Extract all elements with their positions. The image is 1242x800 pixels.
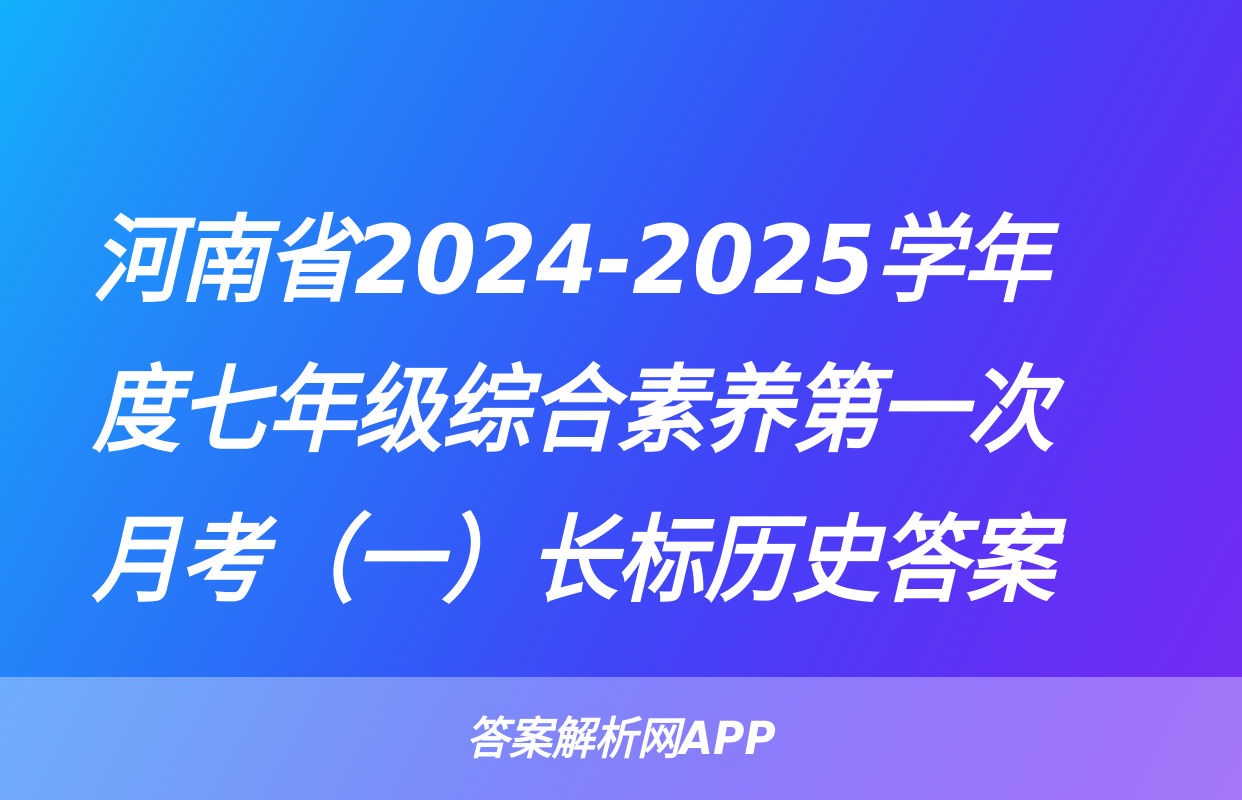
footer-band: 答案解析网APP xyxy=(0,677,1242,800)
poster-canvas: 河南省2024-2025学年 度七年级综合素养第一次 月考（一）长标历史答案 答… xyxy=(0,0,1242,800)
title-line-3: 月考（一）长标历史答案 xyxy=(92,486,1095,636)
title-line-1: 河南省2024-2025学年 xyxy=(92,186,1095,336)
title-line-2: 度七年级综合素养第一次 xyxy=(92,336,1095,486)
app-watermark-label: 答案解析网APP xyxy=(466,716,776,761)
page-title: 河南省2024-2025学年 度七年级综合素养第一次 月考（一）长标历史答案 xyxy=(0,186,1242,636)
